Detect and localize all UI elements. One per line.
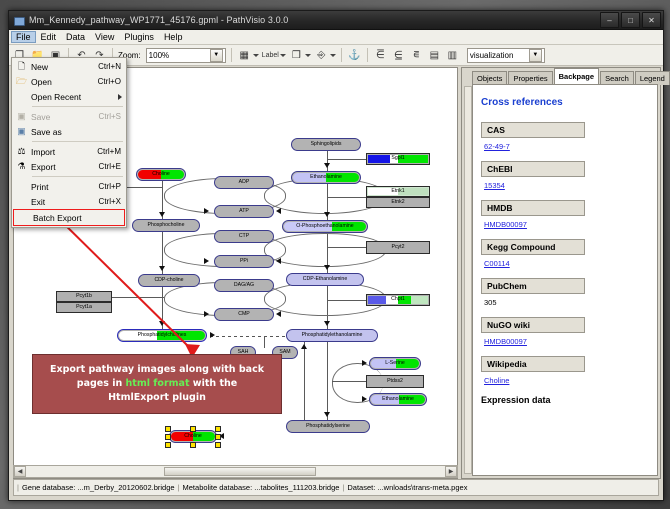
node-sphingolipids[interactable]: Sphingolipids	[291, 138, 361, 151]
annotation-line2-post: with the	[190, 378, 238, 389]
selection-handle[interactable]	[165, 426, 171, 432]
menu-separator	[32, 176, 123, 177]
file-menu-print-shortcut: Ctrl+P	[99, 182, 126, 191]
annotation-highlight: html format	[126, 378, 190, 389]
shape-tool[interactable]: ⎆	[314, 48, 336, 63]
file-menu-import-shortcut: Ctrl+M	[97, 147, 126, 156]
selection-handle[interactable]	[165, 442, 171, 448]
arrow-choline-to-phosphocholine	[159, 212, 165, 217]
scroll-left-button[interactable]: ◀	[14, 466, 26, 477]
file-menu-batch-export-label: Batch Export	[33, 213, 124, 223]
folder-open-icon: 🗁	[12, 74, 31, 90]
backpage-content: Cross references CAS 62-49-7 ChEBI 15354…	[472, 84, 658, 476]
node-chpt1[interactable]: Chpt1	[366, 294, 430, 306]
arrow-pc-to-pe-dashed	[210, 332, 215, 338]
node-sgpl1[interactable]: Sgpl1	[366, 153, 430, 165]
node-atp[interactable]: ATP	[214, 205, 274, 218]
file-menu-export[interactable]: ⚗ Export Ctrl+E	[12, 159, 126, 174]
selection-handle[interactable]	[215, 434, 221, 440]
menu-bar: File Edit Data View Plugins Help	[9, 30, 663, 45]
annotation-line3: HtmlExport plugin	[108, 392, 206, 403]
file-menu-open-shortcut: Ctrl+O	[98, 77, 126, 86]
file-menu-open-recent-label: Open Recent	[31, 92, 126, 102]
node-etnk2[interactable]: Etnk2	[366, 197, 430, 208]
node-l-serine[interactable]: L-Serine	[369, 357, 421, 370]
xref-label-kegg-compound: Kegg Compound	[481, 239, 585, 255]
chevron-down-icon[interactable]	[330, 54, 336, 57]
close-button[interactable]: ✕	[642, 12, 661, 28]
file-menu-save: ▣ Save Ctrl+S	[12, 109, 126, 124]
arrow-into-ppi-right	[276, 258, 281, 264]
node-o-phosphoethanolamine[interactable]: O-Phosphoethanolamine	[282, 220, 368, 233]
visualization-value: visualization	[470, 51, 529, 60]
cross-references-heading: Cross references	[481, 97, 649, 108]
canvas-horizontal-scrollbar[interactable]: ◀ ▶	[13, 465, 458, 478]
arrow-into-cmp-left	[204, 311, 209, 317]
file-menu-print-label: Print	[31, 182, 99, 192]
selection-handle[interactable]	[215, 442, 221, 448]
anchor-tool-icon[interactable]: ⚓	[347, 48, 362, 63]
selection-handle[interactable]	[165, 434, 171, 440]
edge-choline-chain	[162, 174, 163, 329]
selection-handle[interactable]	[190, 442, 196, 448]
node-pcyt1a[interactable]: Pcyt1a	[56, 302, 112, 313]
window-buttons: – □ ✕	[600, 12, 661, 28]
label-tool-text: Label	[262, 52, 279, 59]
xref-value-cas[interactable]: 62-49-7	[484, 142, 649, 151]
node-ethanolamine-bottom[interactable]: Ethanolamine	[369, 393, 427, 406]
app-icon	[13, 15, 24, 26]
chevron-right-icon	[118, 94, 122, 100]
node-dag-ag[interactable]: DAG/AG	[214, 279, 274, 292]
xref-value-wikipedia[interactable]: Choline	[484, 376, 649, 385]
pathvisio-window: Mm_Kennedy_pathway_WP1771_45176.gpml - P…	[8, 10, 664, 501]
node-ctp[interactable]: CTP	[214, 230, 274, 243]
chevron-down-icon[interactable]	[280, 54, 286, 57]
minimize-button[interactable]: –	[600, 12, 619, 28]
node-cdp-choline[interactable]: CDP-choline	[138, 274, 200, 287]
file-menu-exit-label: Exit	[31, 197, 99, 207]
group-icon[interactable]: ▤	[427, 48, 442, 63]
status-dataset: Dataset: ...wnloads\trans-meta.pgex	[344, 483, 470, 492]
file-menu-save-as-label: Save as	[31, 127, 121, 137]
chevron-down-icon[interactable]: ▼	[529, 49, 542, 62]
annotation-text: Export pathway images along with back pa…	[50, 363, 264, 404]
xref-value-pubchem: 305	[484, 298, 649, 307]
arrow-into-ppi-left	[204, 258, 209, 264]
arrow-to-ethanolamine-bottom	[362, 396, 367, 402]
arrow-pe-to-ps	[324, 412, 330, 417]
annotation-callout: Export pathway images along with back pa…	[32, 354, 282, 414]
tab-search[interactable]: Search	[600, 71, 634, 85]
node-phosphatidylserine[interactable]: Phosphatidylserine	[286, 420, 370, 433]
chevron-down-icon[interactable]	[305, 54, 311, 57]
align-top-icon[interactable]: ⋷	[409, 48, 424, 63]
file-menu-new-shortcut: Ctrl+N	[98, 62, 126, 71]
xref-value-kegg-compound[interactable]: C00114	[484, 259, 649, 268]
line-tool-icon[interactable]: ❒	[289, 48, 304, 63]
toolbar-separator	[231, 48, 232, 62]
annotation-line1: Export pathway images along with back	[50, 364, 264, 375]
panel-scrollbar[interactable]	[464, 86, 472, 474]
status-metabolite-database: Metabolite database: ...tabolites_111203…	[180, 483, 343, 492]
new-document-icon: 🗋	[12, 59, 31, 75]
align-left-icon[interactable]: ⋶	[373, 48, 388, 63]
toolbar-separator	[367, 48, 368, 62]
selection-handle[interactable]	[190, 426, 196, 432]
arrow-into-cmp-right	[276, 311, 281, 317]
node-cmp[interactable]: CMP	[214, 308, 274, 321]
file-menu-batch-export[interactable]: Batch Export	[13, 209, 125, 226]
arrow-into-atp-left	[204, 208, 209, 214]
tab-legend[interactable]: Legend	[635, 71, 670, 85]
xref-label-wikipedia: Wikipedia	[481, 356, 585, 372]
window-title: Mm_Kennedy_pathway_WP1771_45176.gpml - P…	[29, 15, 288, 25]
menu-separator	[32, 106, 123, 107]
arrow-ethanolamine-to-ophospho	[324, 212, 330, 217]
shape-tool-icon[interactable]: ⎆	[314, 48, 329, 63]
node-ethanolamine-top[interactable]: Ethanolamine	[291, 171, 361, 184]
arrow-cdpetn-to-pe	[324, 321, 330, 326]
side-panel: Objects Properties Backpage Search Legen…	[461, 67, 661, 479]
edge-pcyt1-link	[112, 297, 164, 298]
edge-pe-ps	[327, 342, 328, 420]
label-tool[interactable]: Label	[262, 52, 286, 59]
tab-properties[interactable]: Properties	[508, 71, 552, 85]
chevron-down-icon[interactable]	[253, 54, 259, 57]
arrow-cdp-to-pc	[159, 321, 165, 326]
file-menu-new-label: New	[31, 62, 98, 72]
status-gene-database: Gene database: ...m_Derby_20120602.bridg…	[19, 483, 178, 492]
file-menu-open[interactable]: 🗁 Open Ctrl+O	[12, 74, 126, 89]
edge-sah-sam-stem	[264, 336, 265, 348]
import-icon: ⚖	[12, 146, 31, 157]
line-tool[interactable]: ❒	[289, 48, 311, 63]
arrow-phosphocholine-to-cdp	[159, 266, 165, 271]
file-menu-save-as[interactable]: ▣ Save as	[12, 124, 126, 139]
node-pcyt2[interactable]: Pcyt2	[366, 241, 430, 254]
arrow-to-l-serine	[362, 360, 367, 366]
edge-ptdss2-link	[332, 381, 368, 382]
file-menu-export-shortcut: Ctrl+E	[99, 162, 126, 171]
save-as-icon: ▣	[12, 126, 31, 137]
visualization-combobox[interactable]: visualization ▼	[467, 48, 545, 63]
menu-separator	[32, 141, 123, 142]
menu-file[interactable]: File	[11, 31, 36, 43]
file-menu-popup: 🗋 New Ctrl+N 🗁 Open Ctrl+O Open Recent ▣…	[11, 57, 127, 228]
xref-label-chebi: ChEBI	[481, 161, 585, 177]
zoom-combobox[interactable]: 100% ▼	[146, 48, 226, 63]
node-adp[interactable]: ADP	[214, 176, 274, 189]
scroll-right-button[interactable]: ▶	[445, 466, 457, 477]
arrow-ps-to-pe	[301, 344, 307, 349]
xref-value-chebi[interactable]: 15354	[484, 181, 649, 190]
menu-edit[interactable]: Edit	[36, 31, 62, 43]
xref-label-nugo-wiki: NuGO wiki	[481, 317, 585, 333]
status-bar: | Gene database: ...m_Derby_20120602.bri…	[13, 479, 659, 496]
xref-label-cas: CAS	[481, 122, 585, 138]
file-menu-open-recent[interactable]: Open Recent	[12, 89, 126, 104]
menu-plugins[interactable]: Plugins	[119, 31, 159, 43]
desktop-background: Mm_Kennedy_pathway_WP1771_45176.gpml - P…	[0, 0, 670, 509]
menu-data[interactable]: Data	[61, 31, 90, 43]
arrow-ophospho-to-cdpetn	[324, 265, 330, 270]
align-center-icon[interactable]: ⋸	[391, 48, 406, 63]
node-phosphocholine[interactable]: Phosphocholine	[132, 219, 200, 232]
maximize-button[interactable]: □	[621, 12, 640, 28]
edge-sgpl1-link	[327, 159, 367, 160]
xref-label-pubchem: PubChem	[481, 278, 585, 294]
stack-icon[interactable]: ▥	[445, 48, 460, 63]
file-menu-new[interactable]: 🗋 New Ctrl+N	[12, 59, 126, 74]
chevron-down-icon[interactable]: ▼	[210, 49, 223, 62]
node-ppi[interactable]: PPi	[214, 255, 274, 268]
export-icon: ⚗	[12, 161, 31, 172]
file-menu-save-label: Save	[31, 112, 99, 122]
file-menu-import[interactable]: ⚖ Import Ctrl+M	[12, 144, 126, 159]
node-pcyt1b[interactable]: Pcyt1b	[56, 291, 112, 302]
annotation-line2-pre: pages in	[77, 378, 126, 389]
datanode-tool[interactable]: ▦	[237, 48, 259, 63]
xref-value-hmdb[interactable]: HMDB00097	[484, 220, 649, 229]
file-menu-exit-shortcut: Ctrl+X	[99, 197, 126, 206]
selection-handle[interactable]	[215, 426, 221, 432]
file-menu-export-label: Export	[31, 162, 99, 172]
tab-objects[interactable]: Objects	[472, 71, 507, 85]
file-menu-exit[interactable]: Exit Ctrl+X	[12, 194, 126, 209]
file-menu-open-label: Open	[31, 77, 98, 87]
node-cdp-ethanolamine[interactable]: CDP-Ethanolamine	[286, 273, 364, 286]
file-menu-save-shortcut: Ctrl+S	[99, 112, 126, 121]
tab-backpage[interactable]: Backpage	[554, 68, 599, 84]
zoom-value: 100%	[149, 51, 210, 60]
file-menu-print[interactable]: Print Ctrl+P	[12, 179, 126, 194]
expression-data-heading: Expression data	[481, 395, 649, 405]
save-disk-icon: ▣	[12, 111, 31, 122]
node-phosphatidylethanolamine[interactable]: Phosphatidylethanolamine	[286, 329, 378, 342]
node-choline-top[interactable]: Choline	[136, 168, 186, 181]
edge-ps-pe-return	[304, 342, 305, 420]
file-menu-import-label: Import	[31, 147, 97, 157]
xref-value-nugo-wiki[interactable]: HMDB00097	[484, 337, 649, 346]
toolbar-separator	[341, 48, 342, 62]
title-bar: Mm_Kennedy_pathway_WP1771_45176.gpml - P…	[9, 11, 663, 30]
scroll-thumb[interactable]	[164, 467, 316, 476]
node-etnk1[interactable]: Etnk1	[366, 186, 430, 197]
datanode-icon[interactable]: ▦	[237, 48, 252, 63]
edge-pc-pe-dashed	[210, 336, 286, 337]
node-phosphatidylcholines[interactable]: Phosphatidylcholines	[117, 329, 207, 342]
menu-help[interactable]: Help	[159, 31, 188, 43]
arrow-sphingo-to-ethanolamine	[324, 163, 330, 168]
node-ptdss2[interactable]: Ptdss2	[366, 375, 424, 388]
menu-view[interactable]: View	[90, 31, 119, 43]
panel-tabs: Objects Properties Backpage Search Legen…	[462, 68, 660, 84]
arrow-into-atp-right	[276, 208, 281, 214]
xref-label-hmdb: HMDB	[481, 200, 585, 216]
